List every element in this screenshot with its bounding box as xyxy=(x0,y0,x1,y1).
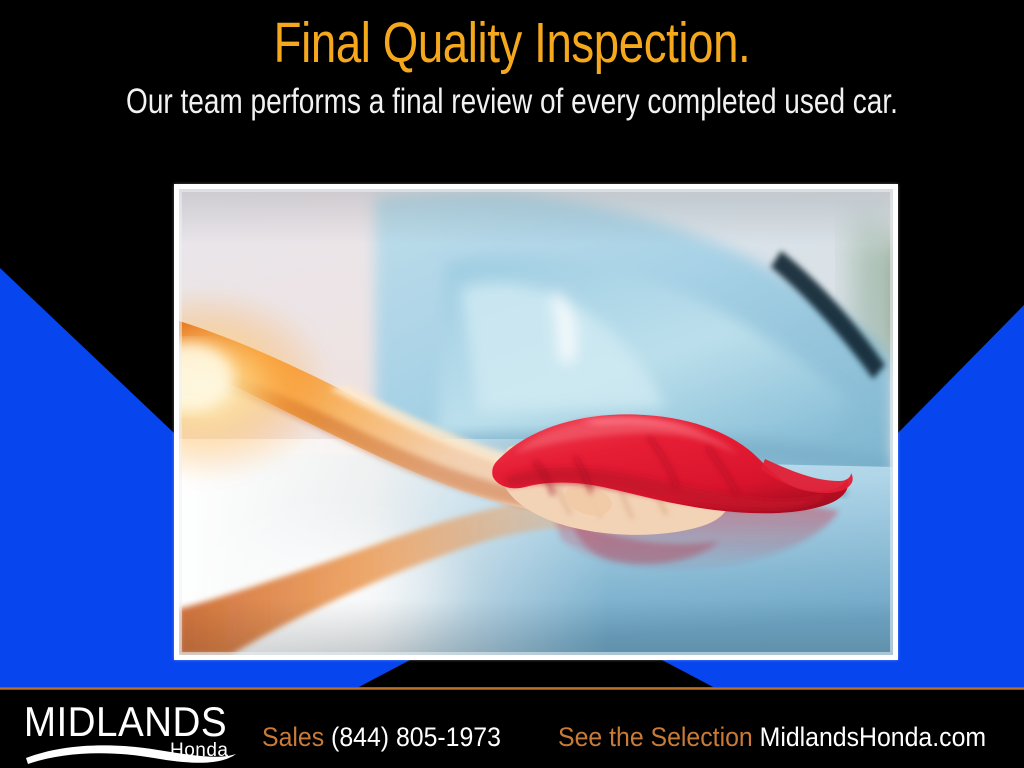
website-url[interactable]: MidlandsHonda.com xyxy=(760,722,986,752)
sales-label: Sales xyxy=(262,722,324,752)
see-selection-label: See the Selection xyxy=(558,722,753,752)
dealer-logo[interactable]: MIDLANDS Honda xyxy=(22,698,262,766)
headline-block: Final Quality Inspection. Our team perfo… xyxy=(0,0,1024,150)
page-title: Final Quality Inspection. xyxy=(102,12,921,74)
sales-phone-number[interactable]: (844) 805-1973 xyxy=(331,722,501,752)
logo-brand-text: MIDLANDS xyxy=(24,698,227,745)
inspection-photo xyxy=(179,189,893,655)
page-subtitle: Our team performs a final review of ever… xyxy=(102,82,921,122)
photo-vignette xyxy=(179,189,893,655)
sales-contact[interactable]: Sales (844) 805-1973 xyxy=(262,722,501,758)
selection-link[interactable]: See the Selection MidlandsHonda.com xyxy=(558,722,986,758)
advertisement-banner: Final Quality Inspection. Our team perfo… xyxy=(0,0,1024,768)
photo-frame xyxy=(174,184,898,660)
